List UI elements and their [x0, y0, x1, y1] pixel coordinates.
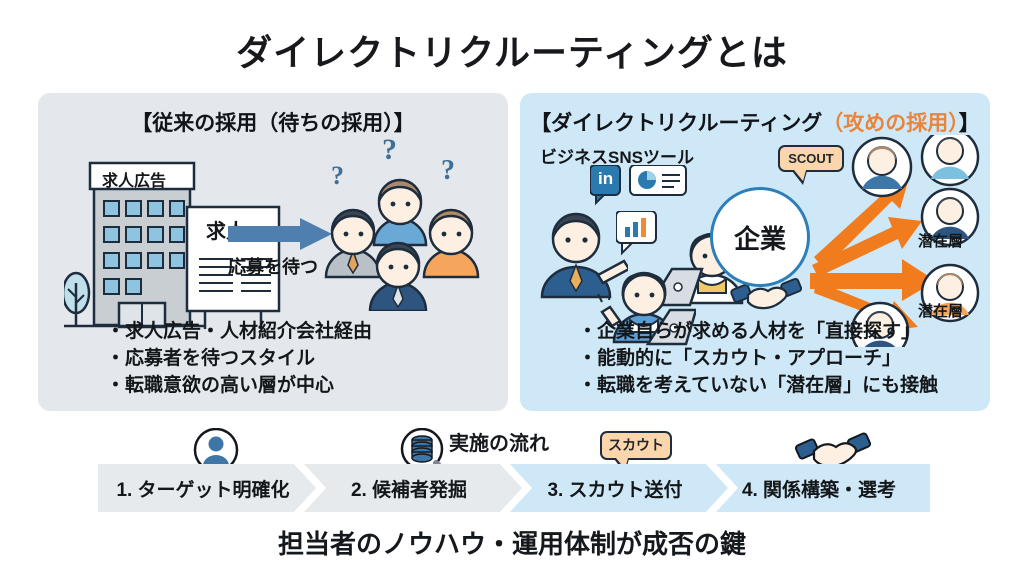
question-mark-icon: ?	[441, 155, 455, 187]
process-flow: 1. ターゲット明確化 2. 候補者発掘 3. スカウト送付 4. 関係構築・選…	[98, 464, 930, 512]
flow-step-4[interactable]: 4. 関係構築・選考	[716, 464, 930, 512]
list-item: 転職意欲の高い層が中心	[106, 372, 372, 399]
applicants-group-illustration	[320, 141, 500, 311]
building-sign-label: 求人広告	[102, 167, 166, 191]
panel-direct-recruiting: 【ダイレクトリクルーティング（攻めの採用）】 ビジネスSNSツール in	[520, 93, 990, 411]
left-bullet-list: 求人広告・人材紹介会社経由 応募者を待つスタイル 転職意欲の高い層が中心	[106, 318, 372, 399]
footer-note: 担当者のノウハウ・運用体制が成否の鍵	[0, 524, 1024, 561]
right-bullet-list: 企業自らが求める人材を「直接探す」 能動的に「スカウト・アプローチ」 転職を考え…	[578, 318, 938, 399]
right-heading-main: 【ダイレクトリクルーティング	[530, 112, 822, 135]
panel-traditional-recruiting: 【従来の採用（待ちの採用）】 求人広告	[38, 93, 508, 411]
passive-talent-label: 潜在層	[918, 230, 963, 251]
scout-bubble-icon: スカウト	[600, 431, 672, 460]
list-item: 求人広告・人材紹介会社経由	[106, 318, 372, 345]
right-heading-close: 】	[959, 112, 980, 135]
list-item: 能動的に「スカウト・アプローチ」	[578, 345, 938, 372]
question-mark-icon: ?	[382, 133, 397, 167]
list-item: 応募者を待つスタイル	[106, 345, 372, 372]
company-label: 企業	[734, 219, 786, 256]
page-title: ダイレクトリクルーティングとは	[0, 24, 1024, 76]
linkedin-icon-label: in	[598, 169, 613, 189]
flow-step-3[interactable]: 3. スカウト送付	[510, 464, 728, 512]
company-node: 企業	[710, 187, 810, 287]
right-heading-accent: （攻めの採用）	[822, 112, 959, 135]
flow-step-2[interactable]: 2. 候補者発掘	[304, 464, 522, 512]
right-panel-heading: 【ダイレクトリクルーティング（攻めの採用）】	[520, 107, 990, 137]
left-panel-heading: 【従来の採用（待ちの採用）】	[38, 107, 508, 137]
list-item: 転職を考えていない「潜在層」にも接触	[578, 372, 938, 399]
infographic-canvas: ダイレクトリクルーティングとは 【従来の採用（待ちの採用）】	[0, 0, 1024, 572]
flow-step-label: 4. 関係構築・選考	[742, 475, 896, 502]
question-mark-icon: ?	[331, 161, 344, 191]
arrow-label-waiting: 応募を待つ	[228, 253, 318, 279]
flow-step-label: 3. スカウト送付	[547, 475, 682, 502]
flow-step-label: 2. 候補者発掘	[351, 475, 467, 502]
flow-step-1[interactable]: 1. ターゲット明確化	[98, 464, 316, 512]
flow-step-label: 1. ターゲット明確化	[116, 475, 289, 502]
list-item: 企業自らが求める人材を「直接探す」	[578, 318, 938, 345]
flow-section-label: 実施の流れ	[449, 427, 549, 456]
